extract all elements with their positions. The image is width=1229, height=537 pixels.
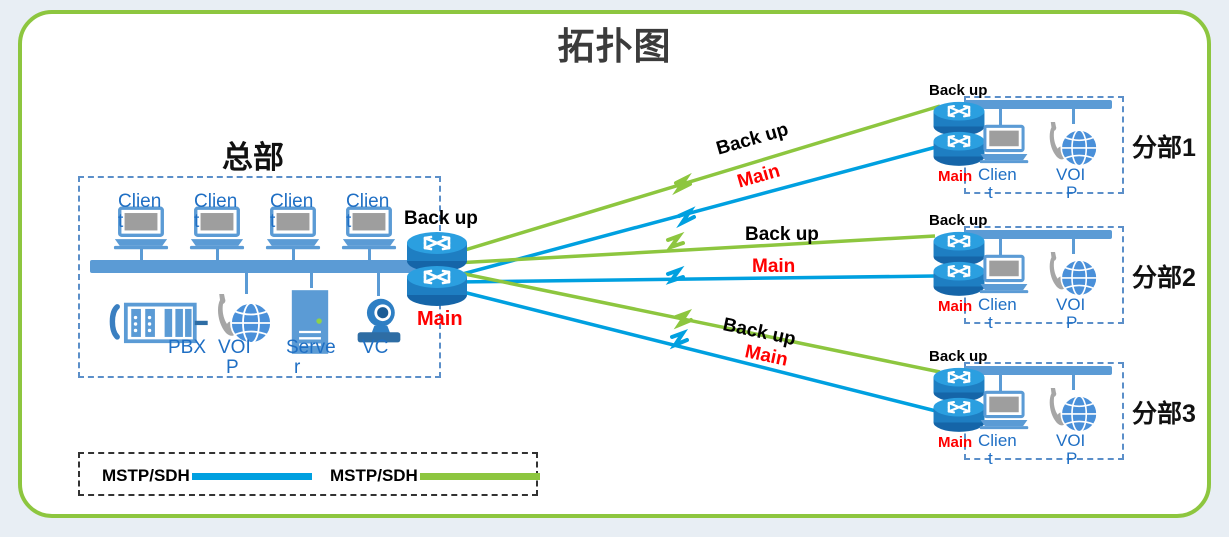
branch-2-voip-label: VOI [1056,296,1085,314]
branch-3-client-label: Clien [978,432,1017,450]
hq-server-drop [310,271,313,288]
branch-2-title: 分部2 [1132,258,1196,294]
hq-client-label2-4: t [346,212,351,232]
branch-2-backup-label: Back up [929,212,987,229]
branch-1-client-icon[interactable] [978,124,1030,170]
hq-client-label-1: Clien [118,192,161,212]
hq-server-label: Serve [286,338,336,358]
hq-client-label-4: Clien [346,192,389,212]
hq-vc-drop [377,271,380,296]
branch-2-voip-label2: P [1066,314,1077,332]
branch-1-voip-label2: P [1066,184,1077,202]
branch-2-client-label2: t [988,314,993,332]
branch-1-title: 分部1 [1132,128,1196,164]
link-blue-branch2 [455,276,935,282]
zigzag-green-2 [668,236,683,247]
zigzag-green-1 [676,178,690,190]
legend: MSTP/SDH MSTP/SDH [78,452,538,496]
branch-1-main-label: Main [938,168,972,185]
link-green-branch2 [455,236,935,263]
link-label-main-branch2: Main [752,256,795,278]
hq-title: 总部 [222,132,284,177]
branch-3-client-label2: t [988,450,993,468]
branch-1-backup-label: Back up [929,82,987,99]
legend-swatch-1 [192,473,312,480]
hq-vc-label: VC [362,338,388,358]
hq-voip-label: VOI [218,338,251,358]
link-green-branch3 [455,272,940,372]
hq-client-drop-2 [216,249,219,263]
hq-router-backup-label: Back up [404,208,478,230]
hq-pbx-label: PBX [168,338,206,358]
hq-client-label2-1: t [118,212,123,232]
branch-2-main-label: Main [938,298,972,315]
branch-1-client-label2: t [988,184,993,202]
hq-client-drop-4 [368,249,371,263]
branch-1-client-label: Clien [978,166,1017,184]
branch-1-voip-label: VOI [1056,166,1085,184]
branch-2-client-label: Clien [978,296,1017,314]
legend-label-2: MSTP/SDH [330,466,418,486]
legend-item-2: MSTP/SDH [330,466,540,486]
hq-voip-drop [245,271,248,294]
hq-voip-label2: P [226,358,239,378]
branch-3-title: 分部3 [1132,394,1196,430]
legend-item-1: MSTP/SDH [102,466,312,486]
branch-3-main-label: Main [938,434,972,451]
branch-3-voip-label2: P [1066,450,1077,468]
hq-server-label2: r [294,358,300,378]
branch-3-voip-label: VOI [1056,432,1085,450]
legend-label-1: MSTP/SDH [102,466,190,486]
link-green-branch1 [455,106,940,253]
link-label-backup-branch2: Back up [745,224,819,246]
link-blue-branch1 [455,146,940,276]
zigzag-blue-3 [672,333,687,345]
hq-client-drop-3 [292,249,295,263]
hq-client-label2-2: t [194,212,199,232]
link-blue-branch3 [455,290,940,412]
hq-client-label2-3: t [270,212,275,232]
zigzag-blue-2 [668,270,683,281]
hq-client-label-2: Clien [194,192,237,212]
hq-client-drop-1 [140,249,143,263]
hq-router-main-icon[interactable] [404,262,470,313]
legend-swatch-2 [420,473,540,480]
branch-2-client-icon[interactable] [978,254,1030,300]
topology-stage: 拓扑图 Back up Main Back up Main Back up Ma… [0,0,1229,537]
hq-client-label-3: Clien [270,192,313,212]
branch-3-backup-label: Back up [929,348,987,365]
branch-3-client-icon[interactable] [978,390,1030,436]
